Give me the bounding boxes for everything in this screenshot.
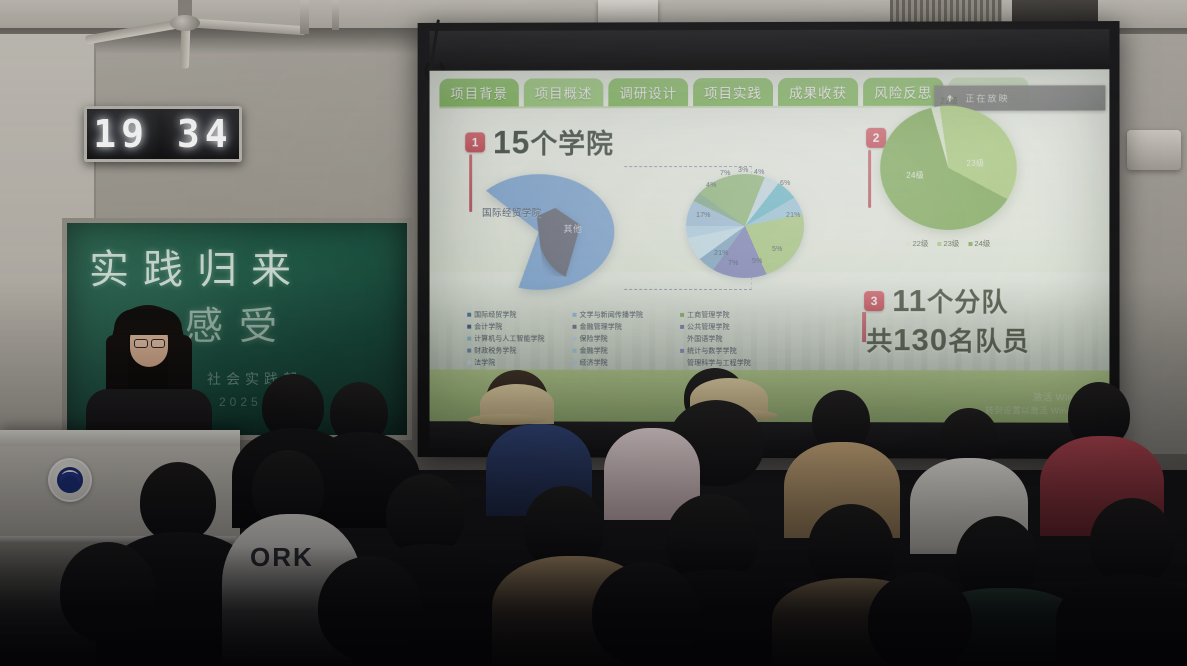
legend-item: 金融管理学院 — [573, 322, 681, 332]
legend-label: 金融学院 — [579, 346, 607, 356]
legend-item: 24级 — [968, 238, 990, 249]
watermark-line-1: 激活 Windows — [985, 392, 1097, 404]
grades-legend: 22级 23级 24级 — [880, 238, 1017, 249]
air-conditioner — [1127, 130, 1181, 170]
audience-jacket — [772, 578, 936, 666]
stat-squads-text: 11个分队 — [892, 282, 1008, 319]
detail-slice-label: 21% — [786, 212, 801, 219]
colleges-pie-detail — [686, 174, 804, 278]
audience-head — [524, 486, 604, 570]
audience-head — [868, 572, 972, 666]
detail-slice-label: 6% — [780, 180, 791, 187]
accent-bar-stats — [862, 312, 866, 342]
windows-activation-watermark: 激活 Windows 转到设置以激活 Windows。 — [985, 392, 1097, 416]
stat-members-line: 共130名队员 — [864, 321, 1029, 358]
grades-pie — [880, 106, 1017, 230]
team-stats: 3 11个分队 共130名队员 — [864, 282, 1029, 360]
audience-head — [592, 562, 700, 666]
legend-label: 公共管理学院 — [687, 322, 730, 332]
screen-top-bar — [430, 29, 1110, 69]
audience-head — [318, 556, 422, 660]
audience-head — [666, 494, 758, 584]
detail-slice-label: 4% — [754, 169, 765, 176]
detail-slice-label: 21% — [714, 250, 729, 257]
classroom-scene: 19 34 实践归来 感受 社会实践部 2025.11.16 — [0, 0, 1187, 666]
accent-bar-right — [868, 150, 871, 208]
detail-slice-label: 3% — [738, 167, 749, 174]
legend-item: 外国语学院 — [680, 334, 796, 344]
legend-label: 财政税务学院 — [474, 346, 516, 356]
legend-item: 23级 — [937, 238, 959, 249]
blackboard-title: 实践归来 — [89, 237, 399, 295]
pie-wedge-label: 其他 — [564, 222, 583, 235]
audience-jacket — [910, 458, 1028, 554]
legend-item: 计算机与人工智能学院 — [467, 334, 572, 344]
legend-item: 工商管理学院 — [680, 310, 796, 320]
digital-wall-clock: 19 34 — [84, 106, 242, 162]
detail-slice-label: 7% — [720, 170, 731, 177]
legend-item: 法学院 — [467, 358, 572, 368]
screen-bottom-bar — [430, 421, 1110, 453]
legend-label: 24级 — [974, 239, 990, 248]
legend-label: 国际经贸学院 — [474, 310, 516, 320]
legend-label: 文学与新闻传播学院 — [579, 310, 643, 320]
legend-label: 外国语学院 — [687, 334, 722, 344]
tab-risk-reflection[interactable]: 风险反思 — [863, 78, 943, 106]
legend-label: 工商管理学院 — [687, 310, 730, 320]
squads-count: 11 — [892, 283, 927, 318]
members-unit: 名队员 — [948, 326, 1029, 356]
heading-colleges: 1 15个学院 — [465, 122, 614, 161]
pie-main-label: 国际经贸学院 — [477, 206, 547, 221]
colleges-count: 15 — [493, 124, 530, 160]
squads-unit: 个分队 — [927, 287, 1008, 317]
members-prefix: 共 — [866, 326, 893, 356]
glasses-icon — [151, 339, 165, 348]
ceiling-pipe — [300, 0, 309, 34]
powerpoint-slide: 项目背景 项目概述 调研设计 项目实践 成果收获 风险反思 团队介绍 ◆ 正在放… — [430, 69, 1110, 423]
legend-label: 计算机与人工智能学院 — [474, 334, 545, 344]
wall-right-panel — [1117, 34, 1187, 454]
ceiling-pipe — [332, 0, 339, 30]
badge-number-3: 3 — [864, 291, 884, 311]
audience-head — [1090, 498, 1174, 586]
university-emblem — [48, 458, 92, 502]
colleges-legend: 国际经贸学院 文学与新闻传播学院 工商管理学院 会计学院 金融管理学院 公共管理… — [467, 310, 796, 368]
watermark-line-2: 转到设置以激活 Windows。 — [985, 404, 1097, 416]
lectern-top — [0, 430, 240, 446]
legend-item: 公共管理学院 — [680, 322, 796, 332]
legend-item: 22级 — [906, 238, 928, 249]
tab-project-background[interactable]: 项目背景 — [439, 79, 518, 107]
legend-item: 文学与新闻传播学院 — [573, 310, 681, 320]
audience-shoulders — [352, 544, 508, 666]
legend-label: 法学院 — [474, 358, 495, 368]
clock-time: 19 34 — [93, 112, 232, 156]
audience-shoulders — [632, 570, 804, 666]
grade-label-23: 23级 — [966, 158, 984, 169]
projection-screen: 项目背景 项目概述 调研设计 项目实践 成果收获 风险反思 团队介绍 ◆ 正在放… — [418, 21, 1120, 459]
legend-item: 财政税务学院 — [467, 346, 572, 356]
emblem-mark-icon — [57, 467, 83, 493]
blackboard-note-date: 2025.11.16 — [219, 395, 318, 409]
legend-item: 国际经贸学院 — [467, 310, 572, 320]
fan-hub-icon — [170, 15, 200, 31]
audience-head — [808, 504, 894, 592]
glasses-icon — [134, 339, 148, 348]
legend-label: 金融管理学院 — [579, 322, 621, 332]
detail-slice-label: 5% — [752, 258, 763, 265]
detail-slice-label: 4% — [706, 182, 717, 189]
legend-item: 金融学院 — [573, 346, 681, 356]
audience-jacket — [492, 556, 652, 666]
stat-members-text: 共130名队员 — [866, 321, 1029, 358]
legend-item: 经济学院 — [573, 358, 681, 368]
tab-project-practice[interactable]: 项目实践 — [693, 78, 773, 106]
members-count: 130 — [893, 322, 948, 357]
legend-label: 会计学院 — [474, 322, 502, 332]
detail-slice-label: 5% — [772, 246, 783, 253]
legend-item: 管理科学与工程学院 — [680, 358, 796, 368]
grade-label-24: 24级 — [906, 170, 924, 181]
audience-head — [956, 516, 1038, 602]
tab-research-design[interactable]: 调研设计 — [608, 78, 688, 106]
audience-shoulders — [1056, 574, 1187, 666]
presenter-fringe — [114, 309, 182, 335]
audience-jacket — [924, 588, 1084, 666]
legend-item: 保险学院 — [573, 334, 681, 344]
badge-number-2: 2 — [866, 127, 886, 147]
audience-head — [386, 474, 464, 556]
legend-item: 会计学院 — [467, 322, 572, 332]
grade-label-22: 22级 — [940, 96, 958, 107]
heading-colleges-text: 15个学院 — [493, 122, 614, 161]
lectern-base — [0, 542, 248, 666]
blackboard-note-org: 社会实践部 — [207, 369, 302, 389]
colleges-unit: 个学院 — [530, 129, 614, 159]
ppt-status-label: 正在放映 — [965, 92, 1009, 105]
tab-project-overview[interactable]: 项目概述 — [524, 78, 604, 106]
detail-slice-label: 7% — [728, 260, 739, 267]
jacket-text: ORK — [250, 542, 314, 573]
legend-label: 22级 — [912, 239, 928, 248]
legend-label: 经济学院 — [579, 358, 607, 368]
legend-label: 23级 — [943, 239, 959, 248]
legend-item: 统计与数学学院 — [680, 346, 796, 356]
badge-number-1: 1 — [465, 132, 485, 152]
detail-slice-label: 17% — [696, 212, 711, 219]
legend-label: 管理科学与工程学院 — [687, 358, 751, 368]
stat-squads-line: 3 11个分队 — [864, 282, 1029, 319]
legend-label: 统计与数学学院 — [687, 346, 737, 356]
tab-achievements[interactable]: 成果收获 — [778, 78, 858, 106]
legend-label: 保险学院 — [579, 334, 607, 344]
slide-surface: 项目背景 项目概述 调研设计 项目实践 成果收获 风险反思 团队介绍 ◆ 正在放… — [430, 69, 1110, 423]
